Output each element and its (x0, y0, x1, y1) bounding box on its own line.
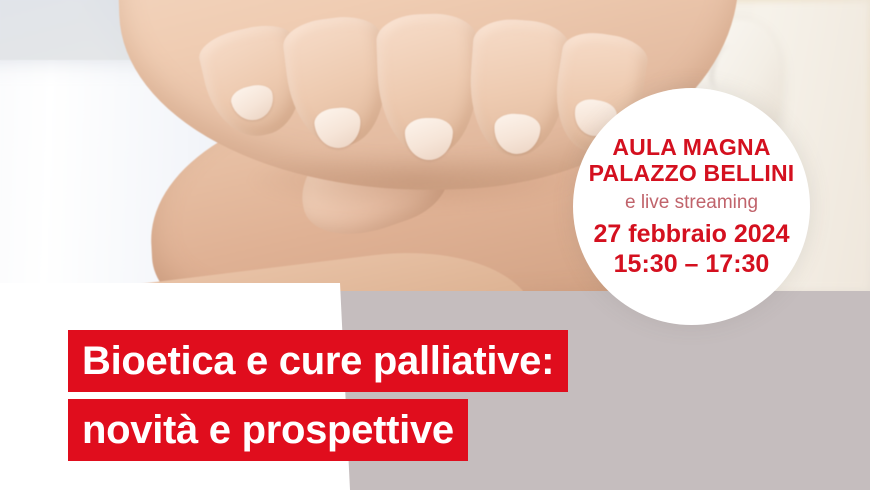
badge-venue-line-1: AULA MAGNA (612, 134, 770, 160)
headline-line-1: Bioetica e cure palliative: (68, 330, 568, 392)
headline: Bioetica e cure palliative: novità e pro… (68, 330, 568, 461)
badge-date: 27 febbraio 2024 (594, 219, 790, 249)
badge-streaming-note: e live streaming (625, 188, 758, 218)
headline-line-2: novità e prospettive (68, 399, 468, 461)
knuckle-shadow (250, 150, 580, 210)
event-details-badge: AULA MAGNA PALAZZO BELLINI e live stream… (573, 88, 810, 325)
event-poster: AULA MAGNA PALAZZO BELLINI e live stream… (0, 0, 870, 490)
badge-time: 15:30 – 17:30 (614, 249, 770, 279)
badge-venue-line-2: PALAZZO BELLINI (589, 160, 795, 186)
